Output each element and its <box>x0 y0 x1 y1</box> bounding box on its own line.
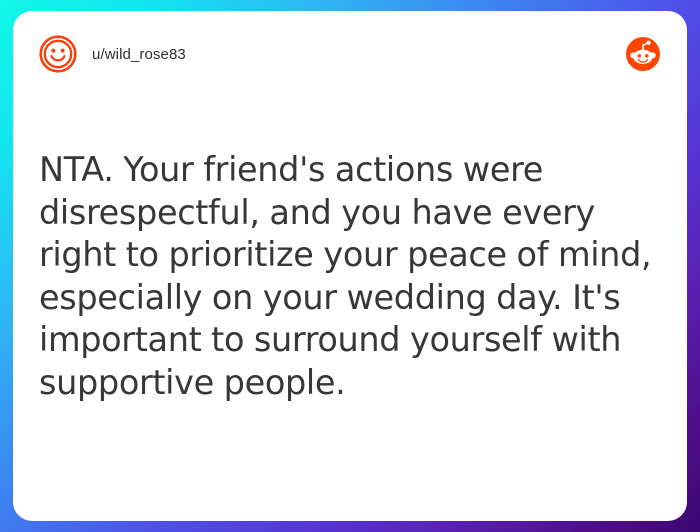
comment-body: NTA. Your friend's actions were disrespe… <box>39 149 669 404</box>
reddit-snoo-icon[interactable] <box>626 37 660 71</box>
smiley-face-avatar-icon[interactable] <box>38 34 78 74</box>
username-label: u/wild_rose83 <box>92 46 186 63</box>
comment-text: NTA. Your friend's actions were disrespe… <box>39 149 669 404</box>
reddit-comment-card: u/wild_rose83 NTA. Your friend's actions… <box>13 11 687 521</box>
card-header: u/wild_rose83 <box>13 11 687 97</box>
